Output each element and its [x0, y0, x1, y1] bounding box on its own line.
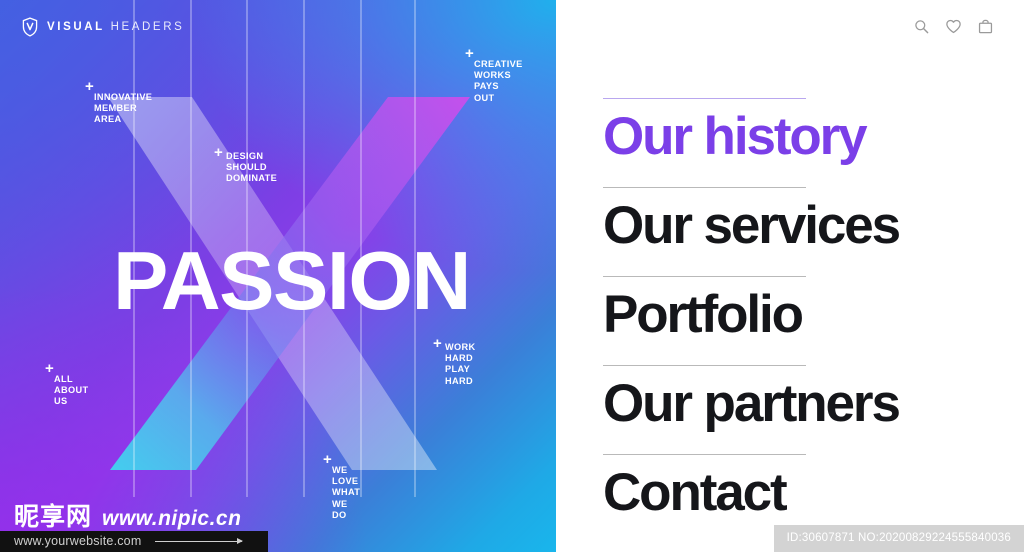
annotation-creative-works-pays-out: + CREATIVE WORKS PAYS OUT	[465, 46, 523, 104]
annotation-work-hard-play-hard: + WORK HARD PLAY HARD	[433, 336, 476, 387]
watermark-bar-url: www.yourwebsite.com	[14, 534, 141, 548]
annotation-text: WORK HARD PLAY HARD	[445, 336, 476, 387]
menu-item-label: Our history	[603, 110, 1003, 163]
annotation-text: WE LOVE WHAT WE DO	[332, 452, 360, 521]
menu-divider	[603, 276, 806, 277]
annotation-we-love-what-we-do: + WE LOVE WHAT WE DO	[323, 452, 360, 521]
menu-item-label: Our partners	[603, 377, 1003, 430]
shopping-bag-icon[interactable]	[977, 18, 994, 35]
menu-item-our-history[interactable]: Our history	[603, 98, 1003, 163]
plus-icon: +	[85, 79, 94, 94]
brand-logo[interactable]: VISUAL HEADERS	[22, 17, 184, 37]
menu-divider	[603, 98, 806, 99]
page-root: VISUAL HEADERS PASSION + INNOVATIVE MEMB…	[0, 0, 1024, 552]
brand-logo-text: VISUAL HEADERS	[47, 21, 184, 33]
plus-icon: +	[465, 46, 474, 61]
menu-item-label: Our services	[603, 199, 1003, 252]
plus-icon: +	[433, 336, 442, 351]
shield-v-icon	[22, 17, 38, 37]
annotation-text: ALL ABOUT US	[54, 361, 88, 408]
right-panel: Our history Our services Portfolio Our p…	[556, 0, 1024, 552]
menu-item-contact[interactable]: Contact	[603, 454, 1003, 519]
plus-icon: +	[45, 361, 54, 376]
search-icon[interactable]	[913, 18, 930, 35]
panel-toolbar	[913, 18, 994, 35]
annotation-all-about-us: + ALL ABOUT US	[45, 361, 88, 408]
menu-item-our-services[interactable]: Our services	[603, 187, 1003, 252]
watermark-url: www.nipic.cn	[102, 508, 241, 529]
plus-icon: +	[323, 452, 332, 467]
watermark-brand: 昵享网 www.nipic.cn	[0, 504, 268, 529]
menu-divider	[603, 187, 806, 188]
menu-item-portfolio[interactable]: Portfolio	[603, 276, 1003, 341]
menu-item-our-partners[interactable]: Our partners	[603, 365, 1003, 430]
hero-headline: PASSION	[113, 239, 470, 322]
annotation-innovative-member-area: + INNOVATIVE MEMBER AREA	[85, 79, 152, 126]
hero-banner: VISUAL HEADERS PASSION + INNOVATIVE MEMB…	[0, 0, 556, 552]
brand-word-light: HEADERS	[105, 21, 185, 33]
watermark-bar: www.yourwebsite.com	[0, 531, 268, 552]
main-menu: Our history Our services Portfolio Our p…	[603, 98, 1003, 519]
annotation-text: DESIGN SHOULD DOMINATE	[226, 145, 277, 185]
heart-icon[interactable]	[945, 18, 962, 35]
menu-divider	[603, 454, 806, 455]
watermark-cn-text: 昵享网	[14, 504, 92, 529]
menu-divider	[603, 365, 806, 366]
watermark: 昵享网 www.nipic.cn www.yourwebsite.com	[0, 504, 268, 552]
menu-item-label: Portfolio	[603, 288, 1003, 341]
brand-word-bold: VISUAL	[47, 21, 105, 33]
arrow-right-icon	[155, 541, 242, 542]
annotation-design-should-dominate: + DESIGN SHOULD DOMINATE	[214, 145, 277, 185]
menu-item-label: Contact	[603, 466, 1003, 519]
annotation-text: CREATIVE WORKS PAYS OUT	[474, 46, 523, 104]
stock-id-tag: ID:30607871 NO:20200829224555840036	[774, 525, 1024, 552]
plus-icon: +	[214, 145, 223, 160]
annotation-text: INNOVATIVE MEMBER AREA	[94, 79, 152, 126]
